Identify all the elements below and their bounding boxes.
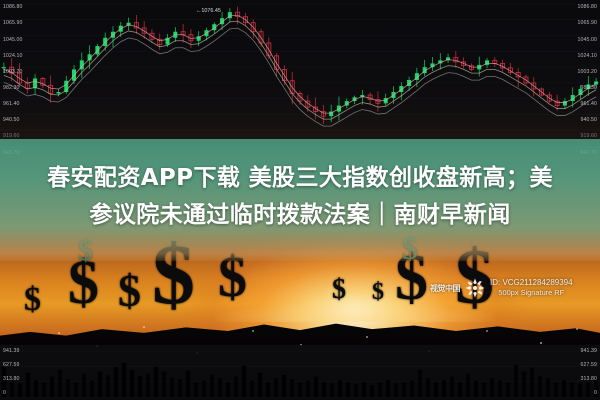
- price-axis-label-left: 1065.90: [3, 20, 22, 26]
- screenshot-stage: $ $ $ $ $ $ $ $ $ $ $ ←1076.45 1086.80 1…: [0, 0, 600, 400]
- dollar-sign-silhouette: $: [118, 268, 141, 314]
- volume-axis-label-right: 313.80: [581, 376, 597, 382]
- watermark: 视觉中国 ID: VCG211284289394 500px Signature…: [430, 277, 573, 299]
- volume-axis-label-left: 313.80: [3, 376, 19, 382]
- volume-bar-chart: 941.39 627.59 313.80 0 941.39 627.59 313…: [0, 345, 600, 400]
- watermark-brand-label: 视觉中国: [430, 283, 460, 294]
- price-axis-label-left: 1024.10: [3, 53, 22, 59]
- volume-axis-label-right: 627.59: [581, 362, 597, 368]
- headline-line-2: 参议院未通过临时拨款法案｜南财早新闻: [0, 197, 600, 234]
- dollar-sign-silhouette: $: [24, 283, 41, 317]
- price-axis-label-right: 1065.90: [578, 20, 597, 26]
- bokeh-speck: [576, 328, 578, 330]
- price-chart-canvas: [0, 0, 600, 152]
- dollar-sign-silhouette: $: [332, 276, 346, 304]
- volume-axis-label-left: 941.39: [3, 348, 19, 354]
- price-axis-label-left: 961.40: [3, 101, 19, 107]
- price-axis-label-right: 982.30: [581, 85, 597, 91]
- volume-axis-label-left: 627.59: [3, 362, 19, 368]
- price-axis-label-teal: 941.70: [581, 150, 597, 156]
- price-axis-label-left: 1086.80: [3, 4, 22, 10]
- price-axis-label-right: 961.40: [581, 101, 597, 107]
- price-axis-label-right: 940.50: [581, 117, 597, 123]
- price-axis-label-right: 1086.80: [578, 4, 597, 10]
- price-candlestick-chart: ←1076.45 1086.80 1065.90 1045.00 1024.10…: [0, 0, 600, 152]
- dollar-sign-silhouette: $: [372, 280, 384, 304]
- price-axis-label-right: 1024.10: [578, 53, 597, 59]
- price-axis-label-left: 1003.20: [3, 69, 22, 75]
- price-axis-label-teal: 941.70: [3, 150, 19, 156]
- bokeh-speck: [540, 342, 542, 344]
- price-peak-annotation: ←1076.45: [196, 8, 221, 14]
- bokeh-speck: [58, 332, 60, 334]
- bokeh-speck: [366, 336, 368, 338]
- watermark-text-group: ID: VCG211284289394 500px Signature RF: [490, 278, 573, 298]
- headline-line-1: 春安配资APP下载 美股三大指数创收盘新高；美: [0, 160, 600, 197]
- bokeh-speck: [486, 330, 488, 332]
- watermark-license: 500px Signature RF: [490, 288, 573, 298]
- page-title: 春安配资APP下载 美股三大指数创收盘新高；美 参议院未通过临时拨款法案｜南财早…: [0, 160, 600, 234]
- price-axis-label-left: 1045.00: [3, 37, 22, 43]
- watermark-id: ID: VCG211284289394: [490, 278, 573, 288]
- volume-axis-label-right: 0: [594, 390, 597, 396]
- starburst-icon: [464, 277, 486, 299]
- bokeh-speck: [143, 326, 145, 328]
- volume-chart-canvas: [0, 345, 600, 400]
- bokeh-speck: [252, 330, 254, 332]
- price-axis-label-right: 1045.00: [578, 37, 597, 43]
- volume-axis-label-left: 0: [3, 390, 6, 396]
- price-axis-label-right: 1003.20: [578, 69, 597, 75]
- price-axis-label-left: 982.30: [3, 85, 19, 91]
- volume-axis-label-right: 941.39: [581, 348, 597, 354]
- price-axis-label-left: 940.50: [3, 117, 19, 123]
